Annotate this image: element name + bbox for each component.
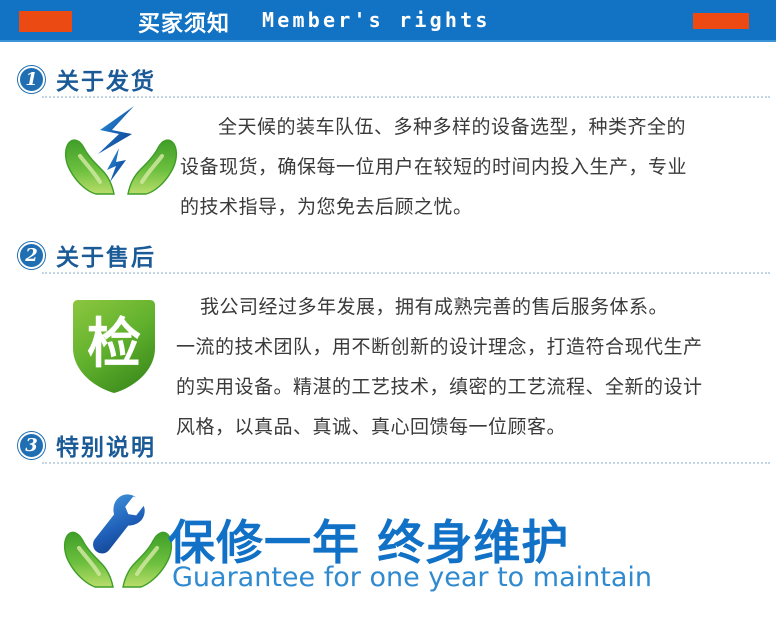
banner-title-english: Guarantee for one year to maintain [172, 562, 652, 593]
section-divider-1 [42, 96, 770, 98]
section-1-line-1: 全天候的装车队伍、多种多样的设备选型，种类齐全的 [218, 107, 686, 147]
section-2-line-3: 的实用设备。精湛的工艺技术，缜密的工艺流程、全新的设计 [176, 367, 703, 407]
header-title-chinese: 买家须知 [138, 6, 230, 38]
section-title-3: 特别说明 [56, 428, 156, 462]
section-heading-1: 1 关于发货 [18, 62, 156, 96]
hands-lightning-icon [62, 104, 180, 196]
section-2-line-2: 一流的技术团队，用不断创新的设计理念，打造符合现代生产 [176, 327, 703, 367]
section-2-line-4: 风格，以真品、真诚、真心回馈每一位顾客。 [176, 407, 566, 447]
section-number-badge-1: 1 [18, 66, 45, 93]
section-divider-3 [42, 462, 770, 464]
section-heading-2: 2 关于售后 [18, 238, 156, 272]
section-1-line-2: 设备现货，确保每一位用户在较短的时间内投入生产，专业 [180, 147, 687, 187]
shield-inspection-icon: 检 [66, 296, 162, 396]
shield-character: 检 [66, 296, 162, 392]
section-title-1: 关于发货 [56, 62, 156, 96]
orange-accent-block-left [19, 11, 72, 32]
section-1-line-3: 的技术指导，为您免去后顾之忧。 [180, 187, 473, 227]
header-title-english: Member's rights [262, 8, 491, 32]
header-bar: 买家须知 Member's rights [0, 0, 776, 42]
section-2-line-1: 我公司经过多年发展，拥有成熟完善的售后服务体系。 [200, 287, 668, 327]
section-number-badge-2: 2 [18, 242, 45, 269]
orange-accent-block-right [693, 13, 749, 29]
section-title-2: 关于售后 [56, 238, 156, 272]
section-divider-2 [42, 272, 770, 274]
section-number-badge-3: 3 [18, 432, 45, 459]
section-heading-3: 3 特别说明 [18, 428, 156, 462]
hands-wrench-icon [62, 492, 174, 596]
